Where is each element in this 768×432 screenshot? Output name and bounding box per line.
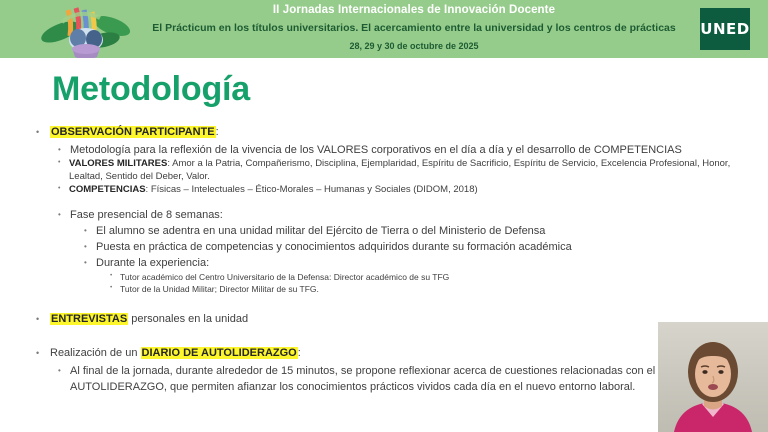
list-item-puesta-en-practica: Puesta en práctica de competencias y con… [82,239,746,255]
conference-logo-icon [38,2,134,58]
highlight-diario-autoliderazgo: DIARIO DE AUTOLIDERAZGO [141,347,298,359]
banner-dates: 28, 29 y 30 de octubre de 2025 [140,39,688,53]
valores-militares-text: : Amor a la Patria, Compañerismo, Discip… [69,158,730,182]
banner-title: II Jornadas Internacionales de Innovació… [140,2,688,18]
bullet-list-level4-tutores: Tutor académico del Centro Universitario… [108,271,746,295]
competencias-label: COMPETENCIAS [69,184,146,195]
list-item-metodologia-reflexion: Metodología para la reflexión de la vive… [56,142,746,158]
list-item-observacion-participante: OBSERVACIÓN PARTICIPANTE: [30,124,746,140]
slide-body: OBSERVACIÓN PARTICIPANTE: Metodología pa… [30,124,746,395]
list-item-reflexion-final-jornada: Al final de la jornada, durante alrededo… [56,363,746,395]
list-item-diario-autoliderazgo: Realización de un DIARIO DE AUTOLIDERAZG… [30,345,746,361]
uned-logo: UNED [700,8,750,50]
list-item-entrevistas: ENTREVISTAS personales en la unidad [30,311,746,327]
valores-militares-label: VALORES MILITARES [69,158,167,169]
bullet-list-level1: OBSERVACIÓN PARTICIPANTE: [30,124,746,140]
list-item-competencias: COMPETENCIAS: Físicas – Intelectuales – … [56,184,746,197]
uned-logo-text: UNED [700,20,749,38]
diario-detail-line2: AUTOLIDERAZGO, que permiten afianzar los… [70,379,698,395]
list-item-fase-presencial: Fase presencial de 8 semanas: [56,207,746,223]
header-banner: II Jornadas Internacionales de Innovació… [0,0,768,58]
list-item-tutor-unidad-militar: Tutor de la Unidad Militar; Director Mil… [108,283,746,295]
diario-lead-text: Realización de un [50,347,141,359]
spacer [30,295,746,311]
diario-colon: : [298,347,301,359]
presenter-video-overlay[interactable] [658,322,768,432]
competencias-text: : Físicas – Intelectuales – Ético-Morale… [146,184,478,195]
list-item-alumno-unidad-militar: El alumno se adentra en una unidad milit… [82,223,746,239]
diario-detail-line1: Al final de la jornada, durante alrededo… [70,363,698,379]
bullet-list-level2-metodologia: Metodología para la reflexión de la vive… [56,142,746,158]
list-item-tutor-academico: Tutor académico del Centro Universitario… [108,271,746,283]
spacer [30,329,746,345]
entrevistas-text: personales en la unidad [128,313,248,325]
bullet-list-diario-detail: Al final de la jornada, durante alrededo… [56,363,746,395]
bullet-list-diario: Realización de un DIARIO DE AUTOLIDERAZG… [30,345,746,361]
list-item-durante-la-experiencia: Durante la experiencia: [82,255,746,271]
banner-text-block: II Jornadas Internacionales de Innovació… [140,2,688,53]
observacion-colon: : [216,126,219,138]
page-title: Metodología [52,70,250,109]
highlight-entrevistas: ENTREVISTAS [50,313,128,325]
banner-subtitle: El Prácticum en los títulos universitari… [140,20,688,36]
spacer [30,198,746,207]
bullet-list-level2-fase: Fase presencial de 8 semanas: [56,207,746,223]
list-item-valores-militares: VALORES MILITARES: Amor a la Patria, Com… [56,158,746,183]
bullet-list-level3-fase-children: El alumno se adentra en una unidad milit… [82,223,746,271]
bullet-list-entrevistas: ENTREVISTAS personales en la unidad [30,311,746,327]
bullet-list-level3-valores: VALORES MILITARES: Amor a la Patria, Com… [56,158,746,197]
highlight-observacion-participante: OBSERVACIÓN PARTICIPANTE [50,126,216,138]
